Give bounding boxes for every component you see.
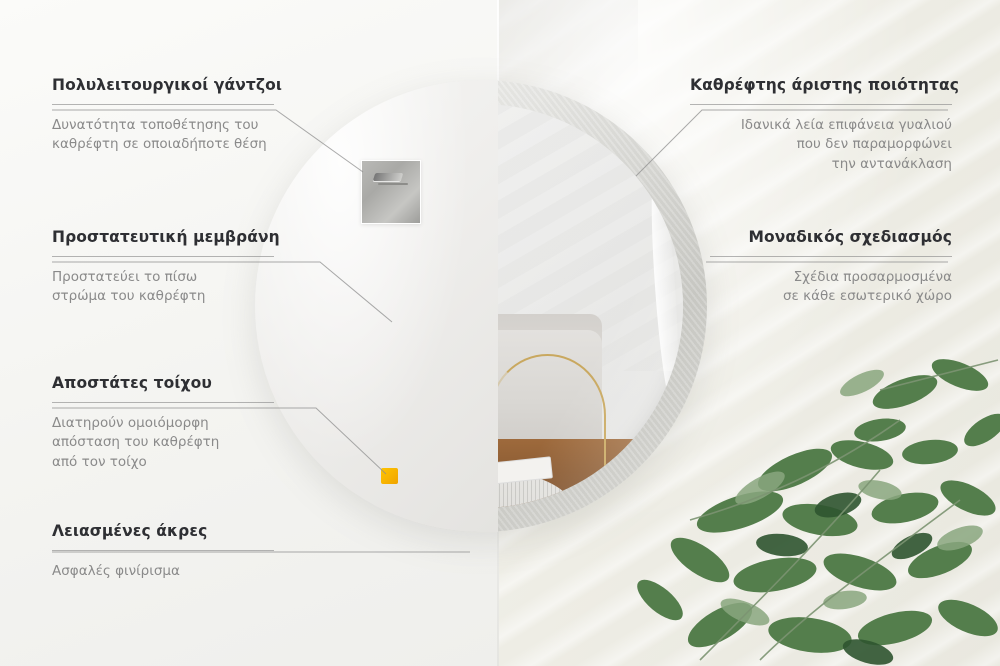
round-mirror [255, 80, 707, 532]
mounting-hook-plate [361, 160, 421, 224]
feature-desc-spacers: Διατηρούν ομοιόμορφη απόσταση του καθρέφ… [52, 414, 274, 473]
feature-title-quality: Καθρέφτης άριστης ποιότητας [690, 76, 952, 95]
feature-callout-edges: Λειασμένες άκρες Ασφαλές φινίρισμα [52, 522, 274, 581]
feature-desc-line: Σχέδια προσαρμοσμένα [710, 268, 952, 288]
feature-desc-line: την αντανάκλαση [690, 155, 952, 175]
feature-title-membrane: Προστατευτική μεμβράνη [52, 228, 274, 247]
feature-desc-line: σε κάθε εσωτερικό χώρο [710, 287, 952, 307]
feature-desc-line: απόσταση του καθρέφτη [52, 433, 274, 453]
feature-title-edges: Λειασμένες άκρες [52, 522, 274, 541]
hook-slot-icon [373, 173, 404, 181]
product-feature-infographic: Πολυλειτουργικοί γάντζοι Δυνατότητα τοπο… [0, 0, 1000, 666]
wall-spacer-yellow [381, 468, 398, 484]
feature-title-hooks: Πολυλειτουργικοί γάντζοι [52, 76, 274, 95]
feature-rule-membrane [52, 256, 274, 257]
feature-desc-line: που δεν παραμορφώνει [690, 135, 952, 155]
feature-desc-line: στρώμα του καθρέφτη [52, 287, 274, 307]
feature-title-spacers: Αποστάτες τοίχου [52, 374, 274, 393]
feature-desc-hooks: Δυνατότητα τοποθέτησης του καθρέφτη σε ο… [52, 116, 274, 155]
feature-desc-line: καθρέφτη σε οποιαδήποτε θέση [52, 135, 274, 155]
feature-callout-membrane: Προστατευτική μεμβράνη Προστατεύει το πί… [52, 228, 274, 307]
feature-desc-design: Σχέδια προσαρμοσμένα σε κάθε εσωτερικό χ… [710, 268, 952, 307]
feature-callout-spacers: Αποστάτες τοίχου Διατηρούν ομοιόμορφη απ… [52, 374, 274, 472]
feature-rule-quality [690, 104, 952, 105]
feature-desc-line: από τον τοίχο [52, 453, 274, 473]
feature-title-design: Μοναδικός σχεδιασμός [710, 228, 952, 247]
feature-desc-quality: Ιδανικά λεία επιφάνεια γυαλιού που δεν π… [690, 116, 952, 175]
feature-desc-edges: Ασφαλές φινίρισμα [52, 562, 274, 582]
feature-rule-hooks [52, 104, 274, 105]
feature-rule-edges [52, 550, 274, 551]
feature-desc-line: Προστατεύει το πίσω [52, 268, 274, 288]
feature-rule-spacers [52, 402, 274, 403]
feature-desc-line: Δυνατότητα τοποθέτησης του [52, 116, 274, 136]
feature-callout-quality: Καθρέφτης άριστης ποιότητας Ιδανικά λεία… [690, 76, 952, 174]
feature-desc-membrane: Προστατεύει το πίσω στρώμα του καθρέφτη [52, 268, 274, 307]
feature-callout-design: Μοναδικός σχεδιασμός Σχέδια προσαρμοσμέν… [710, 228, 952, 307]
feature-callout-hooks: Πολυλειτουργικοί γάντζοι Δυνατότητα τοπο… [52, 76, 274, 155]
feature-desc-line: Διατηρούν ομοιόμορφη [52, 414, 274, 434]
feature-desc-line: Ασφαλές φινίρισμα [52, 562, 274, 582]
hook-slot-secondary-icon [378, 183, 408, 185]
feature-rule-design [710, 256, 952, 257]
feature-desc-line: Ιδανικά λεία επιφάνεια γυαλιού [690, 116, 952, 136]
